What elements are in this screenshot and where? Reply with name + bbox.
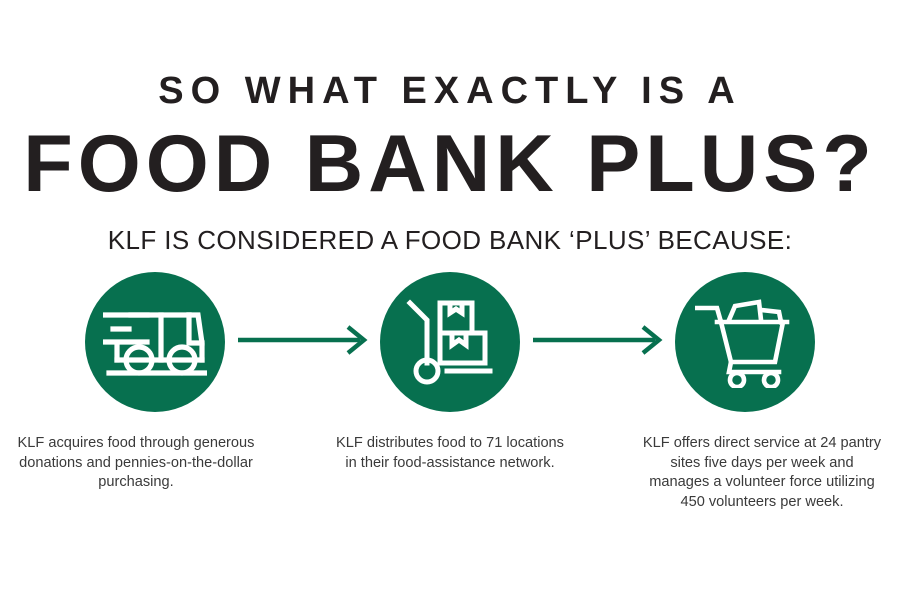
hand-truck-boxes-icon [406, 299, 494, 385]
step-1-caption: KLF acquires food through generous donat… [16, 434, 256, 493]
flow-connector-1 [238, 322, 368, 362]
eyebrow-heading: SO WHAT EXACTLY IS A [0, 72, 900, 110]
headline-block: SO WHAT EXACTLY IS A FOOD BANK PLUS? KLF… [0, 0, 900, 253]
captions-row: KLF acquires food through generous donat… [0, 434, 900, 512]
step-2-caption: KLF distributes food to 71 locations in … [332, 434, 568, 473]
process-flow-row [0, 272, 900, 412]
step-3-icon-circle [675, 272, 815, 412]
flow-connector-2 [533, 322, 663, 362]
page-title: FOOD BANK PLUS? [0, 110, 900, 205]
step-2-icon-circle [380, 272, 520, 412]
shopping-cart-icon [695, 296, 795, 388]
arrow-right-icon [533, 325, 663, 360]
food-bank-plus-infographic: SO WHAT EXACTLY IS A FOOD BANK PLUS? KLF… [0, 0, 900, 600]
delivery-truck-icon [103, 303, 207, 381]
arrow-right-icon [238, 325, 368, 360]
step-3-caption: KLF offers direct service at 24 pantry s… [640, 434, 884, 512]
subtitle-heading: KLF IS CONSIDERED A FOOD BANK ‘PLUS’ BEC… [0, 205, 900, 253]
step-1-icon-circle [85, 272, 225, 412]
